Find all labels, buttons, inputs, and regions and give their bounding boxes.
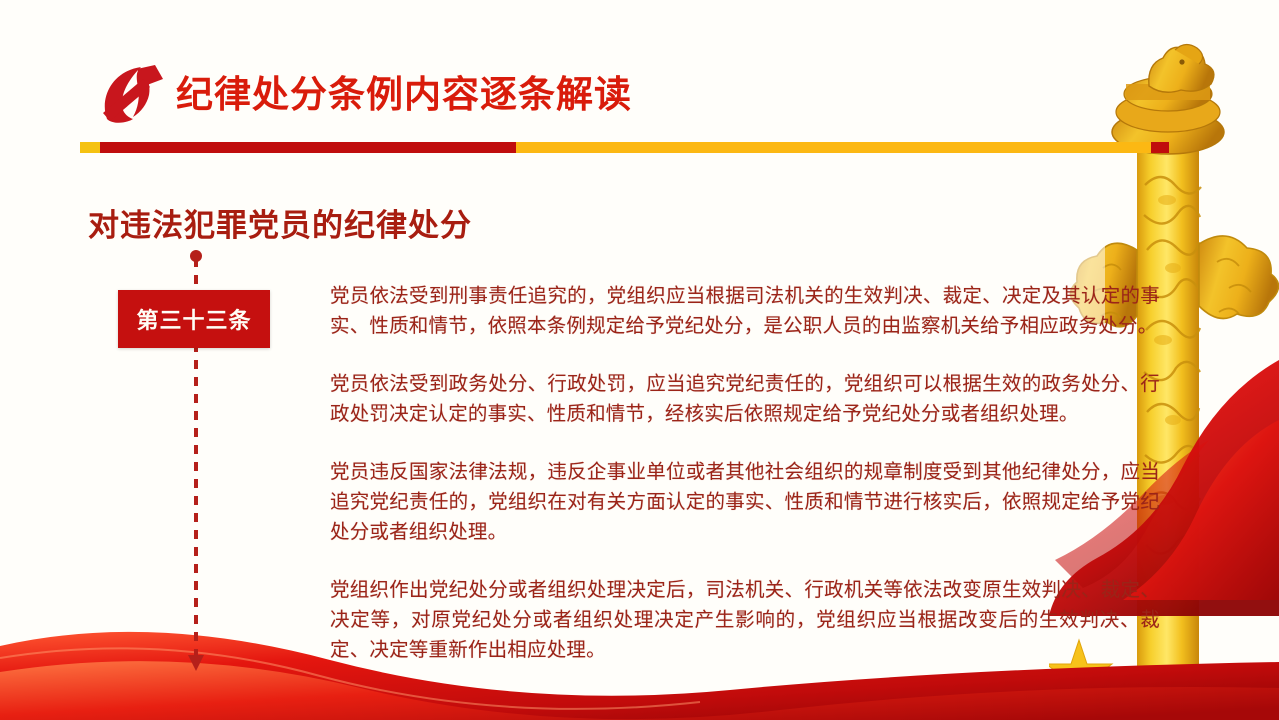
article-number-badge: 第三十三条 (118, 290, 270, 348)
section-heading: 对违法犯罪党员的纪律处分 (88, 200, 472, 245)
article-badge-label: 第三十三条 (136, 303, 251, 335)
page-title: 纪律处分条例内容逐条解读 (176, 70, 632, 120)
divider-red-cap (1151, 142, 1169, 153)
header-divider-bar (0, 142, 1279, 153)
timeline-arrow-icon (188, 655, 204, 671)
slide-header: 纪律处分条例内容逐条解读 (0, 0, 1279, 150)
divider-red-segment (100, 142, 517, 153)
divider-yellow-cap (80, 142, 102, 153)
article-body: 党员依法受到刑事责任追究的，党组织应当根据司法机关的生效判决、裁定、决定及其认定… (330, 281, 1160, 665)
article-paragraph: 党组织作出党纪处分或者组织处理决定后，司法机关、行政机关等依法改变原生效判决、裁… (330, 575, 1160, 665)
divider-gold-segment (516, 142, 1152, 153)
slide-canvas: 纪律处分条例内容逐条解读 对违法犯罪党员的纪律处分 第三十三条 党员依法受到刑事… (0, 0, 1279, 720)
cpc-hammer-sickle-emblem-icon (93, 63, 167, 125)
article-paragraph: 党员违反国家法律法规，违反企事业单位或者其他社会组织的规章制度受到其他纪律处分，… (330, 457, 1160, 547)
article-paragraph: 党员依法受到政务处分、行政处罚，应当追究党纪责任的，党组织可以根据生效的政务处分… (330, 369, 1160, 429)
article-paragraph: 党员依法受到刑事责任追究的，党组织应当根据司法机关的生效判决、裁定、决定及其认定… (330, 281, 1160, 341)
